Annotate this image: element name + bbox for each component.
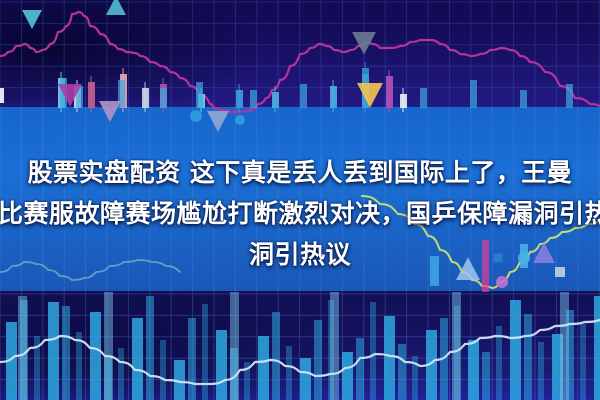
left-edge-marker (0, 88, 4, 103)
headline-line-2: 比赛服故障赛场尴尬打断激烈对决，国乒保障漏洞引热 (0, 193, 600, 234)
headline-line-1: 股票实盘配资 这下真是丢人丢到国际上了，王曼 (0, 152, 600, 193)
headline-text: 股票实盘配资 这下真是丢人丢到国际上了，王曼 比赛服故障赛场尴尬打断激烈对决，国… (0, 152, 600, 275)
banner-image: 股票实盘配资 这下真是丢人丢到国际上了，王曼 比赛服故障赛场尴尬打断激烈对决，国… (0, 0, 600, 400)
headline-line-3: 洞引热议 (0, 234, 600, 275)
blue-band-bars (60, 74, 573, 108)
